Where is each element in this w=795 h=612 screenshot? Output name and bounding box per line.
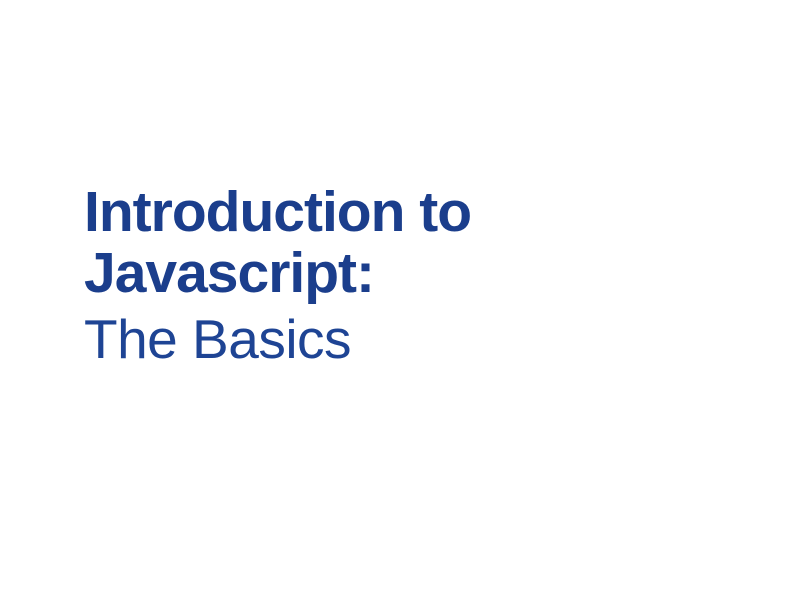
title-block: Introduction to Javascript: The Basics [84,182,724,370]
page-subtitle: The Basics [84,308,724,370]
page-title: Introduction to Javascript: [84,182,724,304]
title-slide: Introduction to Javascript: The Basics [0,0,795,612]
